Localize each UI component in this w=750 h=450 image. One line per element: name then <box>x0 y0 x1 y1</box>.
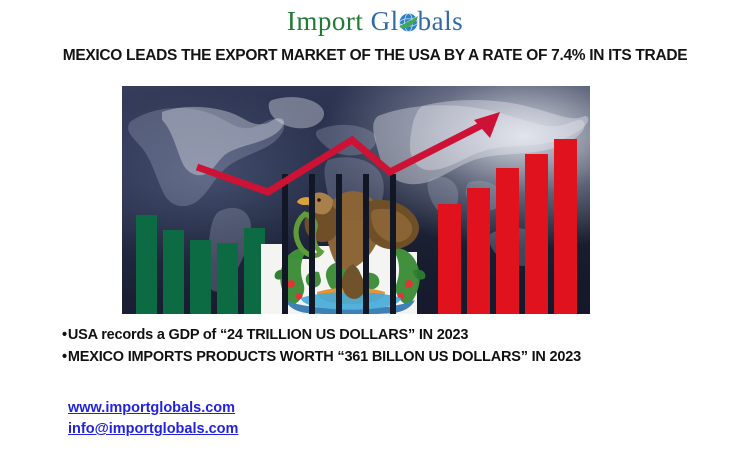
brand-name-gl: Gl <box>371 6 399 36</box>
page-title: MEXICO LEADS THE EXPORT MARKET OF THE US… <box>0 47 750 65</box>
website-link[interactable]: www.importglobals.com <box>68 398 238 419</box>
brand-logo[interactable]: Import Gl bals <box>0 6 750 37</box>
brand-name-import: Import <box>287 6 364 36</box>
mexico-trade-bar-chart <box>122 86 590 314</box>
brand-name-bals: bals <box>418 6 464 36</box>
bullet-marker: • <box>62 327 67 343</box>
bullet-marker: • <box>62 349 67 365</box>
poster-page: Import Gl bals MEXICO LEADS THE EXPORT M… <box>0 0 750 450</box>
globe-icon <box>398 12 419 33</box>
email-link[interactable]: info@importglobals.com <box>68 419 238 440</box>
highlight-list: •USA records a GDP of “24 TRILLION US DO… <box>62 324 722 368</box>
list-item-text: MEXICO IMPORTS PRODUCTS WORTH “361 BILLO… <box>68 349 581 365</box>
list-item: •USA records a GDP of “24 TRILLION US DO… <box>62 324 722 346</box>
upward-trend-arrow <box>122 86 590 314</box>
list-item-text: USA records a GDP of “24 TRILLION US DOL… <box>68 327 468 343</box>
list-item: •MEXICO IMPORTS PRODUCTS WORTH “361 BILL… <box>62 346 722 368</box>
contact-links: www.importglobals.com info@importglobals… <box>68 398 238 440</box>
